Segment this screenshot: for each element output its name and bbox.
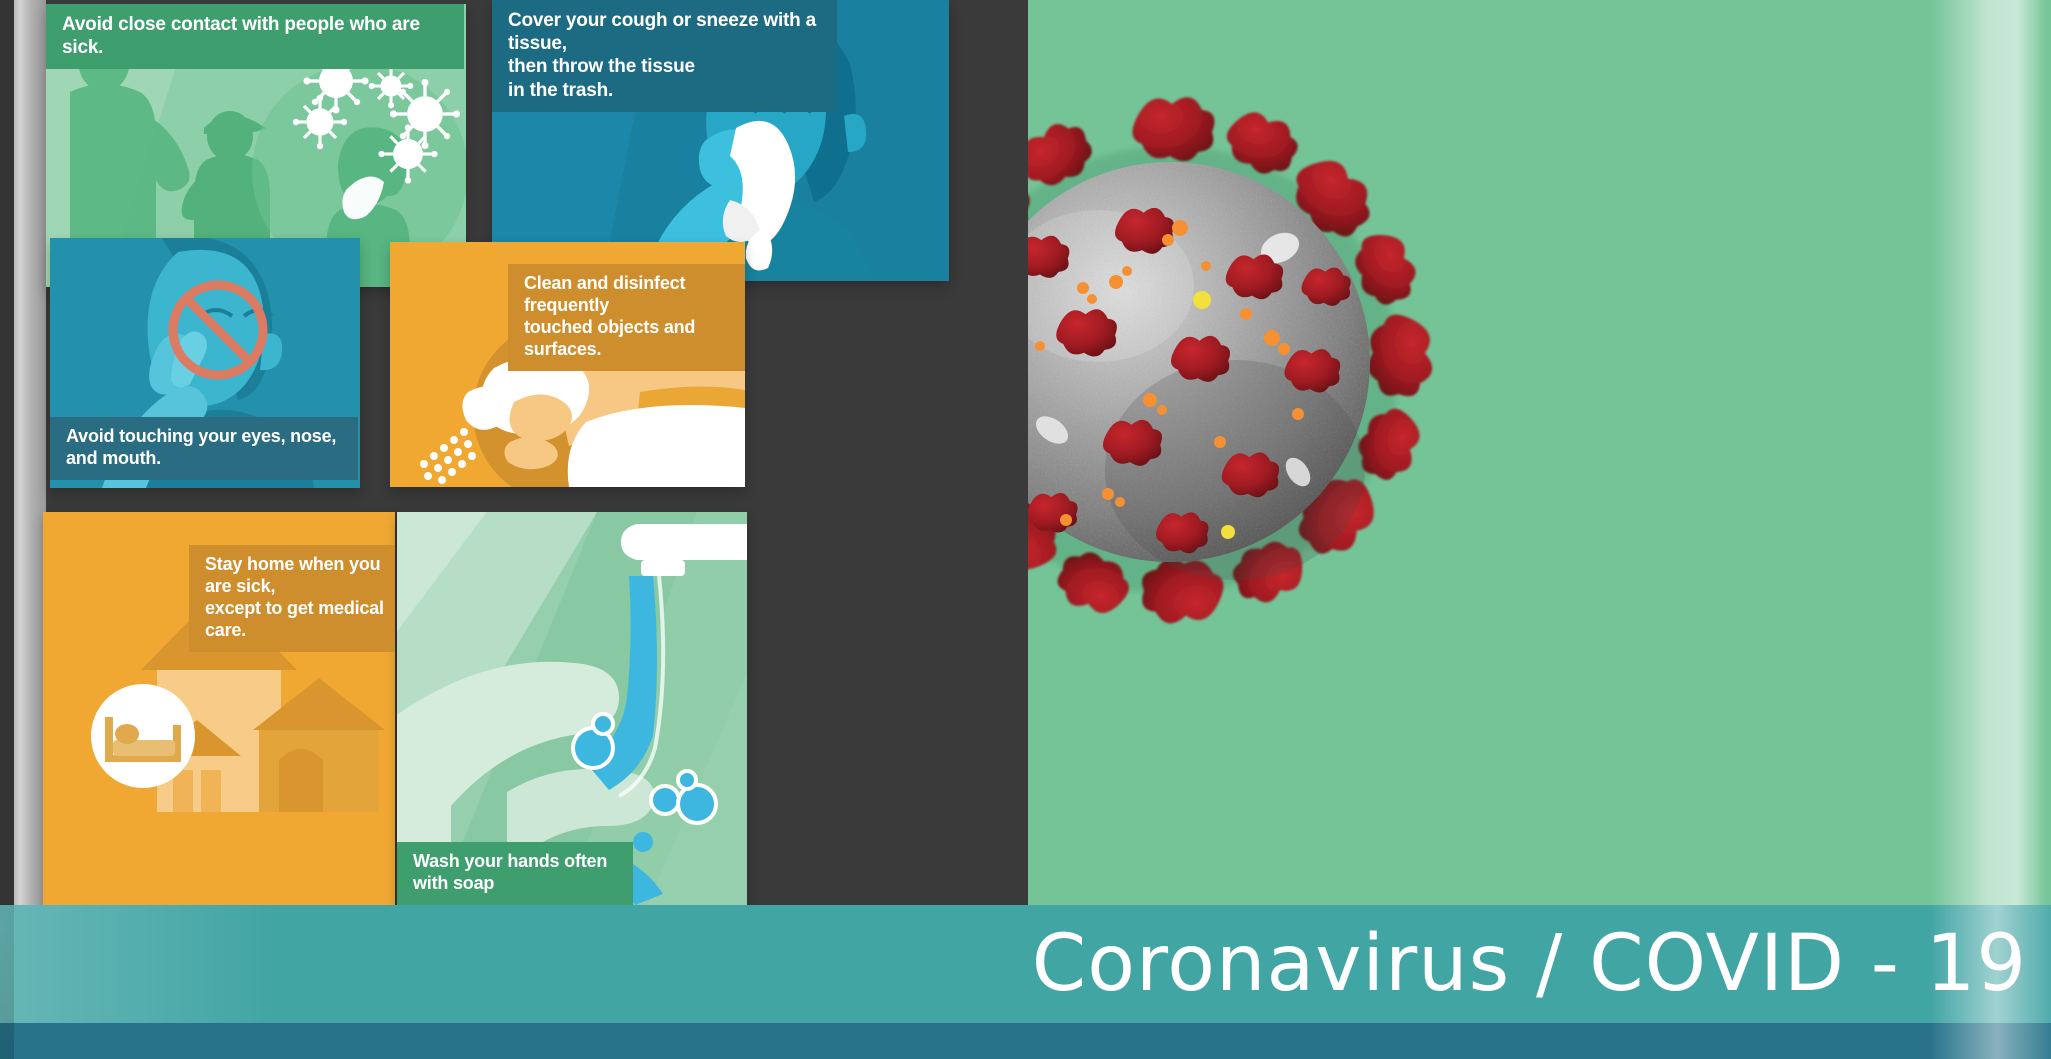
faucet bbox=[621, 524, 747, 560]
bed-icon bbox=[91, 684, 195, 788]
poster-image: Avoid close contact with people who are … bbox=[0, 0, 2051, 1059]
door bbox=[279, 749, 323, 812]
panel-stay-home: Stay home when you are sick, except to g… bbox=[43, 512, 395, 905]
panel-clean-disinfect: Clean and disinfect frequently touched o… bbox=[390, 242, 745, 487]
caption-cover-cough: Cover your cough or sneeze with a tissue… bbox=[492, 0, 837, 112]
covid-prevention-poster: Avoid close contact with people who are … bbox=[0, 0, 1028, 905]
caption-stay-home: Stay home when you are sick, except to g… bbox=[189, 545, 395, 652]
caption-avoid-close-contact: Avoid close contact with people who are … bbox=[46, 4, 464, 69]
poster-left-spine bbox=[14, 0, 46, 905]
caption-avoid-touching-face: Avoid touching your eyes, nose, and mout… bbox=[50, 417, 358, 480]
caption-clean-disinfect: Clean and disinfect frequently touched o… bbox=[508, 264, 745, 371]
panel-cover-cough: Cover your cough or sneeze with a tissue… bbox=[492, 0, 949, 281]
title-banner-left-notch bbox=[0, 905, 14, 1059]
banner-title: Coronavirus / COVID - 19 bbox=[1032, 905, 2027, 1023]
panel-wash-hands: Wash your hands often with soap bbox=[397, 512, 747, 905]
caption-wash-hands: Wash your hands often with soap bbox=[397, 842, 633, 905]
title-banner-bottom-strip bbox=[0, 1023, 2051, 1059]
poster-left-edge-shadow bbox=[0, 0, 14, 905]
panel-avoid-touching-face: Avoid touching your eyes, nose, and mout… bbox=[50, 238, 360, 488]
